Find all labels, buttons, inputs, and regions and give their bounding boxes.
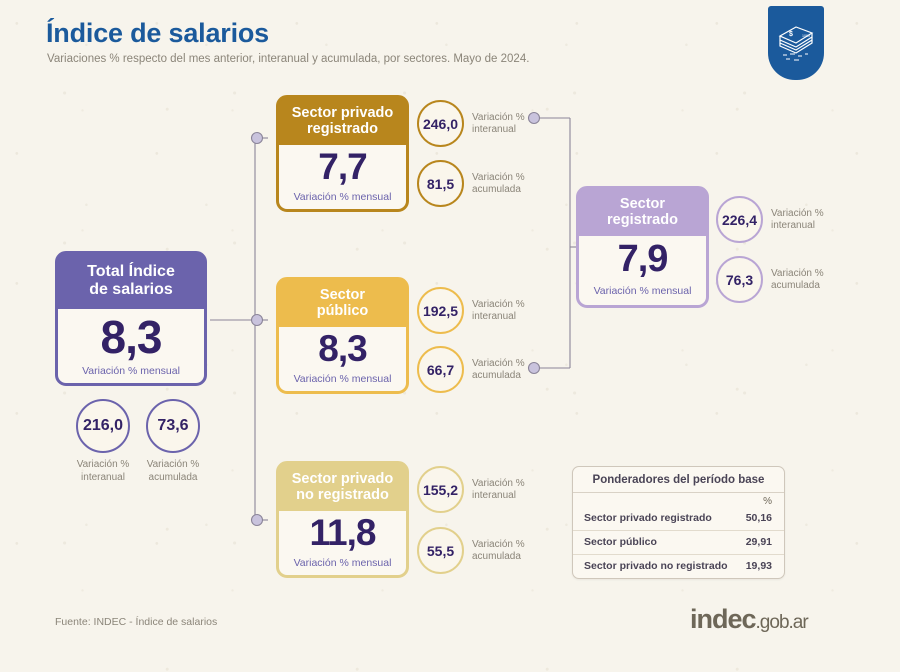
total-circles: 216,0 Variación % interanual 73,6 Variac… (70, 399, 206, 484)
ponderadores-row-value: 19,93 (746, 560, 772, 572)
lbl-l1: Variación % (472, 172, 525, 183)
snr-circle-interanual-value: 155,2 (417, 466, 464, 513)
lbl-l1: Variación % (771, 208, 824, 219)
total-circle-interanual-value: 216,0 (76, 399, 130, 453)
total-circle-interanual[interactable]: 216,0 Variación % interanual (70, 399, 136, 484)
lbl-l1: Variación % (147, 459, 200, 470)
card-sector-privado-no-registrado[interactable]: Sector privado no registrado 11,8 Variac… (276, 461, 409, 578)
spr-circle-interanual-value: 246,0 (417, 100, 464, 147)
spu-circle-interanual-value: 192,5 (417, 287, 464, 334)
spu-circle-interanual-label: Variación % interanual (472, 299, 525, 323)
card-sector-publico[interactable]: Sector público 8,3 Variación % mensual (276, 277, 409, 394)
connector-node (252, 515, 263, 526)
card-snr-sublabel: Variación % mensual (279, 557, 406, 569)
lbl-l1: Variación % (771, 268, 824, 279)
total-circle-acumulada-value: 73,6 (146, 399, 200, 453)
snr-circle-acumulada-label: Variación % acumulada (472, 539, 525, 563)
snr-circle-interanual-label: Variación % interanual (472, 478, 525, 502)
svg-text:$: $ (789, 31, 793, 38)
card-snr-value: 11,8 (279, 514, 406, 551)
connector-node (252, 133, 263, 144)
card-total-indice[interactable]: Total Índice de salarios 8,3 Variación %… (55, 251, 207, 386)
card-snr-caption-line1: Sector privado (292, 471, 394, 487)
lbl-l1: Variación % (472, 539, 525, 550)
total-circle-acumulada-label: Variación % acumulada (140, 459, 206, 484)
lbl-l2: interanual (472, 311, 516, 322)
indec-badge: $ 1000 (768, 6, 824, 80)
spr-circle-interanual-label: Variación % interanual (472, 112, 525, 136)
card-sr-caption-line1: Sector (620, 196, 665, 212)
lbl-l1: Variación % (472, 299, 525, 310)
spu-circle-acumulada-value: 66,7 (417, 346, 464, 393)
card-spu-sublabel: Variación % mensual (279, 373, 406, 385)
ponderadores-row-label: Sector privado registrado (584, 512, 712, 524)
svg-text:1000: 1000 (802, 34, 810, 38)
spu-circle-acumulada[interactable]: 66,7 Variación % acumulada (417, 346, 525, 393)
lbl-l1: Variación % (472, 358, 525, 369)
card-sector-privado-registrado[interactable]: Sector privado registrado 7,7 Variación … (276, 95, 409, 212)
card-sr-value: 7,9 (579, 240, 706, 278)
lbl-l1: Variación % (472, 478, 525, 489)
ponderadores-row-value: 29,91 (746, 536, 772, 548)
sr-circle-acumulada-label: Variación % acumulada (771, 268, 824, 292)
spr-circle-interanual[interactable]: 246,0 Variación % interanual (417, 100, 525, 147)
card-total-caption: Total Índice de salarios (58, 254, 204, 309)
card-sr-caption-line2: registrado (607, 212, 678, 228)
snr-circle-acumulada-value: 55,5 (417, 527, 464, 574)
ponderadores-row-label: Sector privado no registrado (584, 560, 728, 572)
card-spu-body: 8,3 Variación % mensual (279, 327, 406, 394)
connector-node (529, 363, 540, 374)
connector-node (529, 113, 540, 124)
card-spu-caption-line2: público (317, 303, 369, 319)
ponderadores-unit-header: % (573, 493, 784, 507)
card-sector-registrado[interactable]: Sector registrado 7,9 Variación % mensua… (576, 186, 709, 308)
card-total-value: 8,3 (58, 314, 204, 360)
ponderadores-row-label: Sector público (584, 536, 657, 548)
sr-circle-acumulada[interactable]: 76,3 Variación % acumulada (716, 256, 824, 303)
sr-circle-acumulada-value: 76,3 (716, 256, 763, 303)
lbl-l1: Variación % (472, 112, 525, 123)
card-total-body: 8,3 Variación % mensual (58, 309, 204, 386)
card-spu-value: 8,3 (279, 330, 406, 367)
sr-circle-interanual-label: Variación % interanual (771, 208, 824, 232)
spu-circle-acumulada-label: Variación % acumulada (472, 358, 525, 382)
indec-logo[interactable]: indec.gob.ar (690, 604, 808, 635)
money-stack-icon: $ 1000 (776, 20, 816, 64)
card-total-caption-line1: Total Índice (87, 263, 175, 280)
lbl-l1: Variación % (77, 459, 130, 470)
ponderadores-table: Ponderadores del período base % Sector p… (572, 466, 785, 579)
snr-circle-acumulada[interactable]: 55,5 Variación % acumulada (417, 527, 525, 574)
card-snr-caption-line2: no registrado (296, 487, 389, 503)
card-spr-caption-line2: registrado (307, 121, 378, 137)
lbl-l2: acumulada (472, 551, 521, 562)
connector-node (252, 315, 263, 326)
spr-circle-acumulada-label: Variación % acumulada (472, 172, 525, 196)
card-spu-caption-line1: Sector (320, 287, 365, 303)
card-total-caption-line2: de salarios (89, 281, 173, 298)
lbl-l2: acumulada (771, 280, 820, 291)
indec-logo-bold: indec (690, 604, 756, 634)
table-row: Sector público 29,91 (573, 531, 784, 555)
card-sr-body: 7,9 Variación % mensual (579, 236, 706, 308)
lbl-l2: interanual (771, 220, 815, 231)
snr-circle-interanual[interactable]: 155,2 Variación % interanual (417, 466, 525, 513)
card-spu-caption: Sector público (279, 280, 406, 327)
lbl-l2: acumulada (472, 184, 521, 195)
spr-circle-acumulada[interactable]: 81,5 Variación % acumulada (417, 160, 525, 207)
infographic-root: Índice de salarios Variaciones % respect… (0, 0, 900, 672)
card-snr-caption: Sector privado no registrado (279, 464, 406, 511)
card-spr-caption-line1: Sector privado (292, 105, 394, 121)
total-circle-acumulada[interactable]: 73,6 Variación % acumulada (140, 399, 206, 484)
sr-circle-interanual[interactable]: 226,4 Variación % interanual (716, 196, 824, 243)
sr-circle-interanual-value: 226,4 (716, 196, 763, 243)
spr-circle-acumulada-value: 81,5 (417, 160, 464, 207)
lbl-l2: interanual (472, 124, 516, 135)
ponderadores-row-value: 50,16 (746, 512, 772, 524)
lbl-l2: acumulada (149, 472, 198, 483)
card-total-sublabel: Variación % mensual (58, 365, 204, 377)
card-sr-sublabel: Variación % mensual (579, 285, 706, 297)
page-title: Índice de salarios (46, 18, 269, 49)
lbl-l2: interanual (472, 490, 516, 501)
card-sr-caption: Sector registrado (579, 189, 706, 236)
table-row: Sector privado registrado 50,16 (573, 507, 784, 531)
lbl-l2: interanual (81, 472, 125, 483)
lbl-l2: acumulada (472, 370, 521, 381)
card-spr-caption: Sector privado registrado (279, 98, 406, 145)
card-spr-body: 7,7 Variación % mensual (279, 145, 406, 212)
card-snr-body: 11,8 Variación % mensual (279, 511, 406, 578)
source-note: Fuente: INDEC - Índice de salarios (55, 616, 217, 628)
total-circle-interanual-label: Variación % interanual (70, 459, 136, 484)
ponderadores-title: Ponderadores del período base (573, 467, 784, 493)
page-subtitle: Variaciones % respecto del mes anterior,… (47, 53, 529, 65)
table-row: Sector privado no registrado 19,93 (573, 555, 784, 578)
card-spr-value: 7,7 (279, 148, 406, 185)
spu-circle-interanual[interactable]: 192,5 Variación % interanual (417, 287, 525, 334)
indec-logo-domain: .gob.ar (756, 612, 808, 633)
card-spr-sublabel: Variación % mensual (279, 191, 406, 203)
